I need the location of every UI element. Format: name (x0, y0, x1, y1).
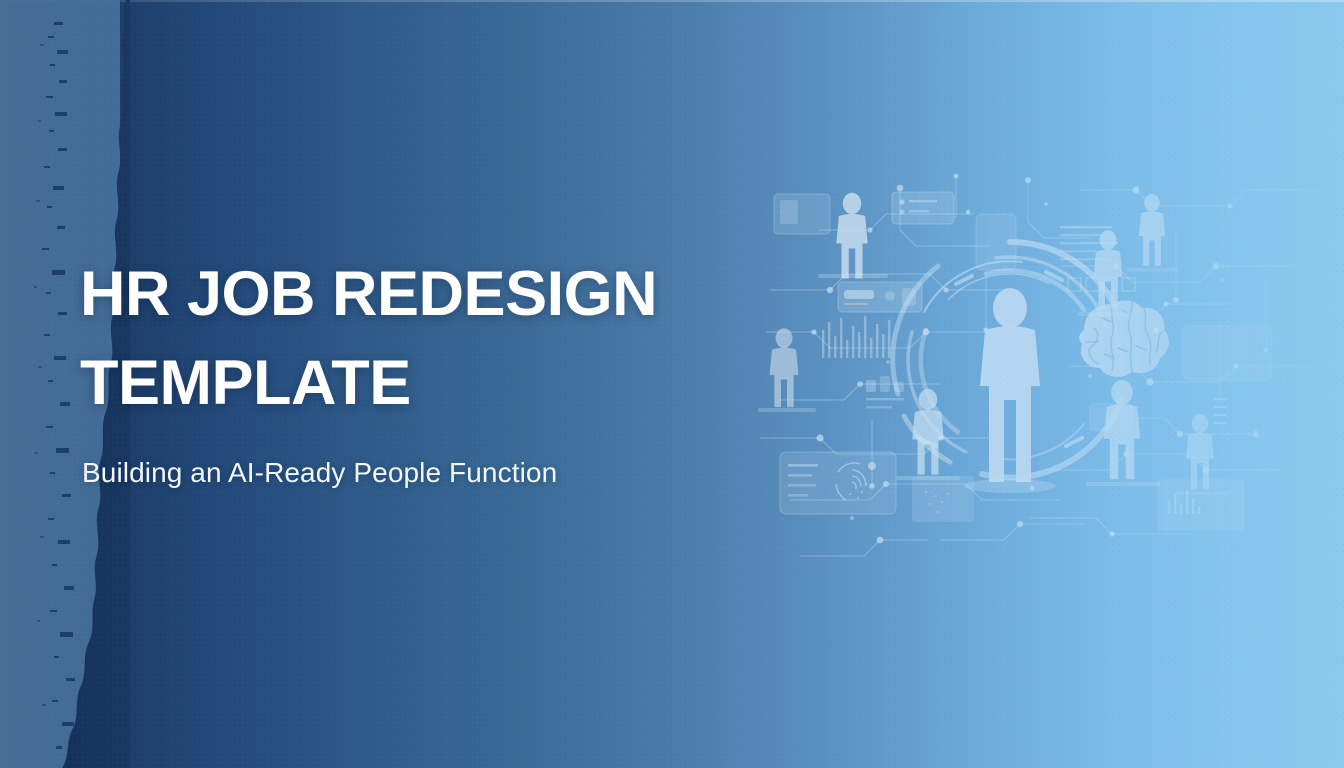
page-title: HR JOB REDESIGN TEMPLATE (80, 250, 780, 429)
satellite-figures (758, 193, 1228, 496)
circuit-traces (760, 176, 1320, 556)
glow-dots (850, 202, 1224, 520)
biometric-card (780, 452, 896, 514)
title-block: HR JOB REDESIGN TEMPLATE Building an AI-… (80, 250, 780, 489)
data-list-panel (1060, 226, 1118, 260)
ai-hr-network-illustration (760, 170, 1340, 570)
control-cluster (866, 376, 904, 408)
top-edge-highlight (0, 0, 1344, 2)
brain-icon (1079, 301, 1169, 377)
fingerprint-icon (836, 463, 866, 500)
bracket-row (1068, 278, 1135, 291)
circuit-nodes (811, 174, 1268, 544)
central-human-figure (964, 288, 1056, 493)
arc-ticks (918, 272, 1082, 446)
ui-panels (774, 192, 1272, 530)
slide-canvas: HR JOB REDESIGN TEMPLATE Building an AI-… (0, 0, 1344, 768)
arc-rings (893, 242, 1122, 477)
page-subtitle: Building an AI-Ready People Function (82, 457, 780, 489)
bar-chart-cluster (822, 316, 890, 358)
